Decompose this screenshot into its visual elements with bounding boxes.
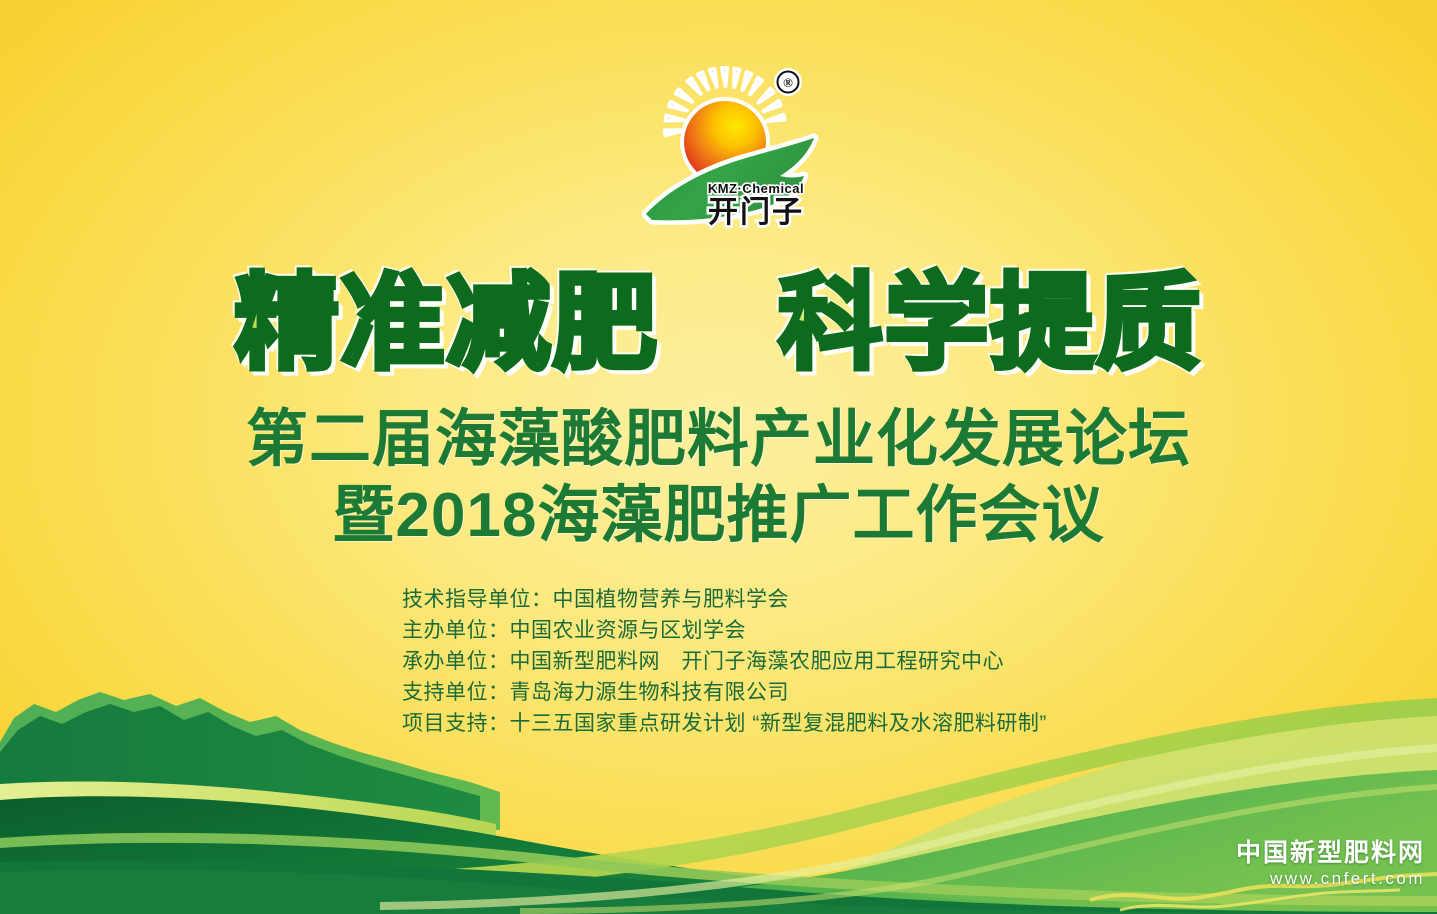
credit-line-organizer: 主办单位：中国农业资源与区划学会 [402,615,1162,646]
subtitle-line-2: 暨2018海藻肥推广工作会议 [0,482,1437,550]
credits-block: 技术指导单位：中国植物营养与肥料学会 主办单位：中国农业资源与区划学会 承办单位… [402,584,1162,739]
headline-part-2: 科学提质 [778,268,1202,380]
site-watermark: 中国新型肥料网 www.cnfert.com [1236,838,1425,890]
subtitle-line-1: 第二届海藻酸肥料产业化发展论坛 [0,406,1437,474]
credit-line-supporter: 支持单位：青岛海力源生物科技有限公司 [402,677,1162,708]
trademark-icon: ® [774,68,802,96]
poster-headline: 精准减肥 科学提质 [0,268,1437,380]
logo-brand-en: KMZ·Chemical [708,181,804,196]
logo-brand-cn: 开门子 [708,195,804,230]
credit-line-host: 承办单位：中国新型肥料网 开门子海藻农肥应用工程研究中心 [402,646,1162,677]
watermark-site-url: www.cnfert.com [1236,868,1425,890]
logo-graphic: ® KMZ·Chemical 开门子 [628,62,828,242]
watermark-site-name: 中国新型肥料网 [1236,838,1425,868]
trademark-letter: ® [783,75,793,90]
credit-line-project-support: 项目支持：十三五国家重点研发计划 “新型复混肥料及水溶肥料研制” [402,708,1162,739]
company-logo: ® KMZ·Chemical 开门子 [628,62,828,242]
credit-line-technical-guidance: 技术指导单位：中国植物营养与肥料学会 [402,584,1162,615]
headline-part-1: 精准减肥 [235,268,659,380]
conference-poster: ® KMZ·Chemical 开门子 精准减肥 科学提质 第二届海藻酸肥料产业化… [0,0,1437,914]
